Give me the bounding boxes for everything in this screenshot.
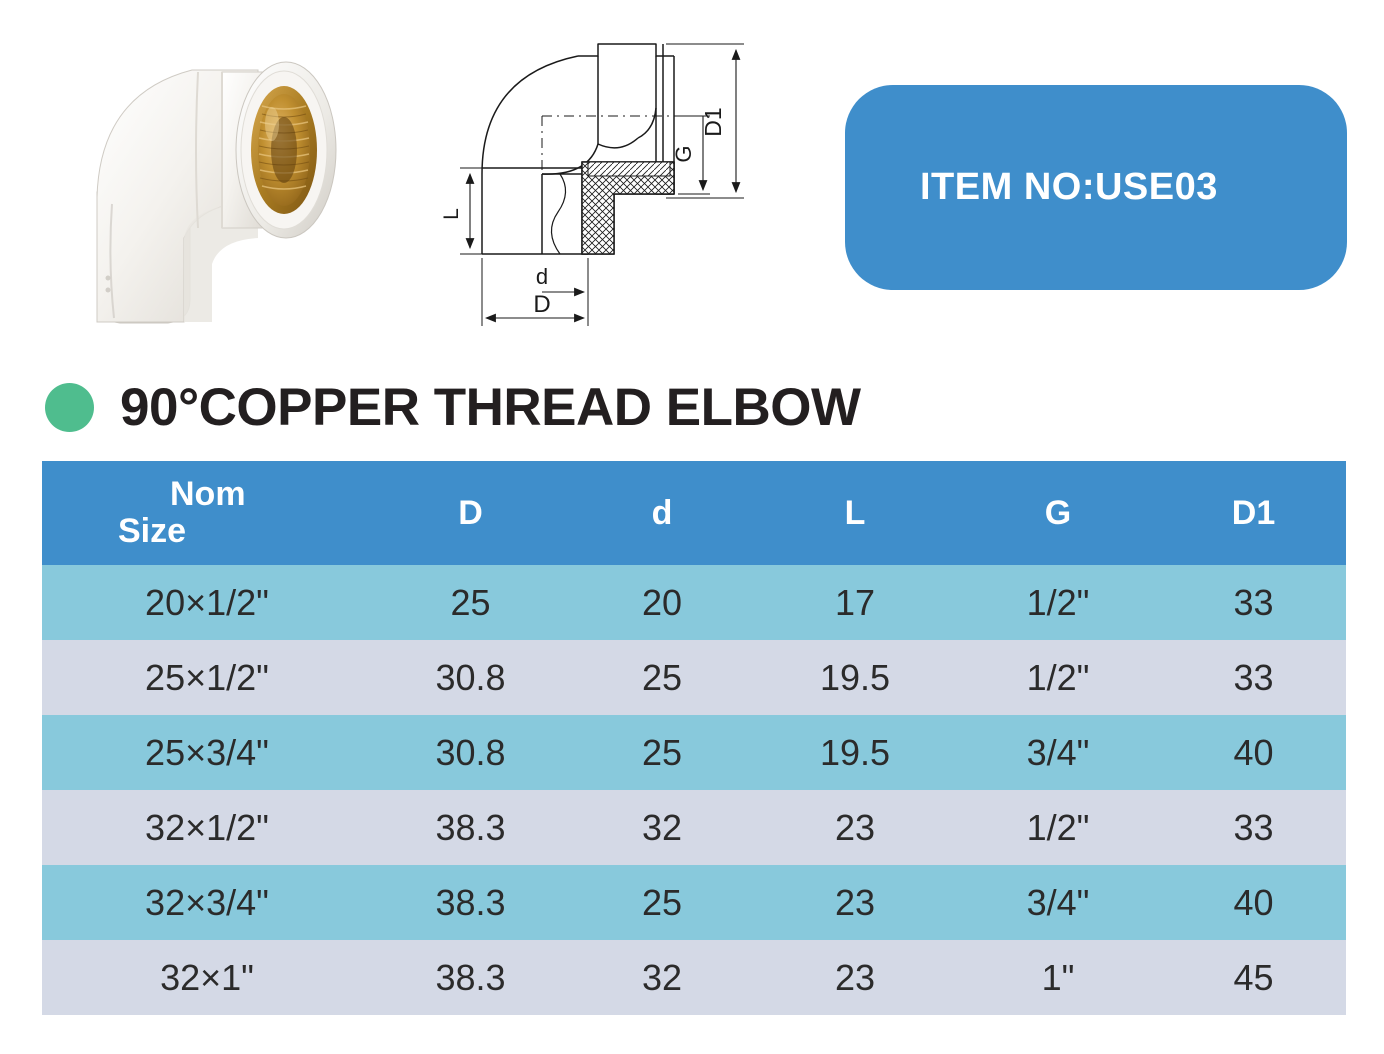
cell-nom-size: 20×1/2" — [42, 565, 372, 640]
cell-G: 3/4" — [955, 715, 1161, 790]
cell-d: 25 — [569, 865, 755, 940]
cell-G: 1" — [955, 940, 1161, 1015]
dim-label-D: D — [533, 291, 550, 318]
cell-D1: 40 — [1161, 715, 1346, 790]
column-header-L: L — [755, 461, 955, 565]
product-spec-sheet: L d D G — [0, 0, 1384, 1054]
size-word: Size — [118, 513, 372, 550]
dim-label-D1: D1 — [700, 107, 726, 136]
column-header-d: d — [569, 461, 755, 565]
cell-D: 38.3 — [372, 940, 569, 1015]
cell-G: 1/2" — [955, 790, 1161, 865]
dim-label-d: d — [536, 264, 548, 289]
table-row: 20×1/2" 25 20 17 1/2" 33 — [42, 565, 1346, 640]
item-number-badge: ITEM NO:USE03 — [845, 85, 1347, 290]
cell-L: 23 — [755, 865, 955, 940]
cell-G: 1/2" — [955, 640, 1161, 715]
cell-L: 17 — [755, 565, 955, 640]
nom-word: Nom — [118, 476, 372, 513]
cell-D1: 45 — [1161, 940, 1346, 1015]
cell-D: 38.3 — [372, 865, 569, 940]
cell-L: 19.5 — [755, 640, 955, 715]
dim-label-L: L — [440, 208, 463, 220]
bullet-circle-icon — [45, 383, 94, 432]
product-photo — [72, 32, 372, 328]
cell-L: 23 — [755, 790, 955, 865]
header-media-row: L d D G — [0, 0, 1384, 350]
cell-D: 25 — [372, 565, 569, 640]
table-row: 32×1" 38.3 32 23 1" 45 — [42, 940, 1346, 1015]
page-title: 90°COPPER THREAD ELBOW — [120, 381, 861, 434]
technical-drawing: L d D G — [438, 26, 786, 332]
table-row: 25×1/2" 30.8 25 19.5 1/2" 33 — [42, 640, 1346, 715]
table-header-row: Nom Size D d L G D1 — [42, 461, 1346, 565]
cell-D: 30.8 — [372, 715, 569, 790]
table-body: 20×1/2" 25 20 17 1/2" 33 25×1/2" 30.8 25… — [42, 565, 1346, 1015]
column-header-D1: D1 — [1161, 461, 1346, 565]
cell-L: 23 — [755, 940, 955, 1015]
cell-D1: 33 — [1161, 640, 1346, 715]
cell-L: 19.5 — [755, 715, 955, 790]
column-header-nom-size: Nom Size — [42, 461, 372, 565]
cell-nom-size: 25×3/4" — [42, 715, 372, 790]
column-header-D: D — [372, 461, 569, 565]
cell-nom-size: 25×1/2" — [42, 640, 372, 715]
product-title-row: 90°COPPER THREAD ELBOW — [0, 368, 1384, 446]
cell-d: 25 — [569, 715, 755, 790]
item-number-label: ITEM NO:USE03 — [920, 166, 1218, 209]
table-row: 32×1/2" 38.3 32 23 1/2" 33 — [42, 790, 1346, 865]
cell-nom-size: 32×1/2" — [42, 790, 372, 865]
cell-G: 3/4" — [955, 865, 1161, 940]
cell-D1: 40 — [1161, 865, 1346, 940]
table-row: 32×3/4" 38.3 25 23 3/4" 40 — [42, 865, 1346, 940]
cell-D1: 33 — [1161, 565, 1346, 640]
cell-D: 38.3 — [372, 790, 569, 865]
specification-table: Nom Size D d L G D1 20×1/2" 25 20 17 1/2… — [42, 461, 1346, 1015]
cell-nom-size: 32×1" — [42, 940, 372, 1015]
cell-d: 25 — [569, 640, 755, 715]
column-header-G: G — [955, 461, 1161, 565]
cell-d: 32 — [569, 790, 755, 865]
cell-G: 1/2" — [955, 565, 1161, 640]
cell-nom-size: 32×3/4" — [42, 865, 372, 940]
table-row: 25×3/4" 30.8 25 19.5 3/4" 40 — [42, 715, 1346, 790]
dim-label-G: G — [671, 145, 696, 162]
cell-D1: 33 — [1161, 790, 1346, 865]
cell-d: 20 — [569, 565, 755, 640]
cell-d: 32 — [569, 940, 755, 1015]
cell-D: 30.8 — [372, 640, 569, 715]
